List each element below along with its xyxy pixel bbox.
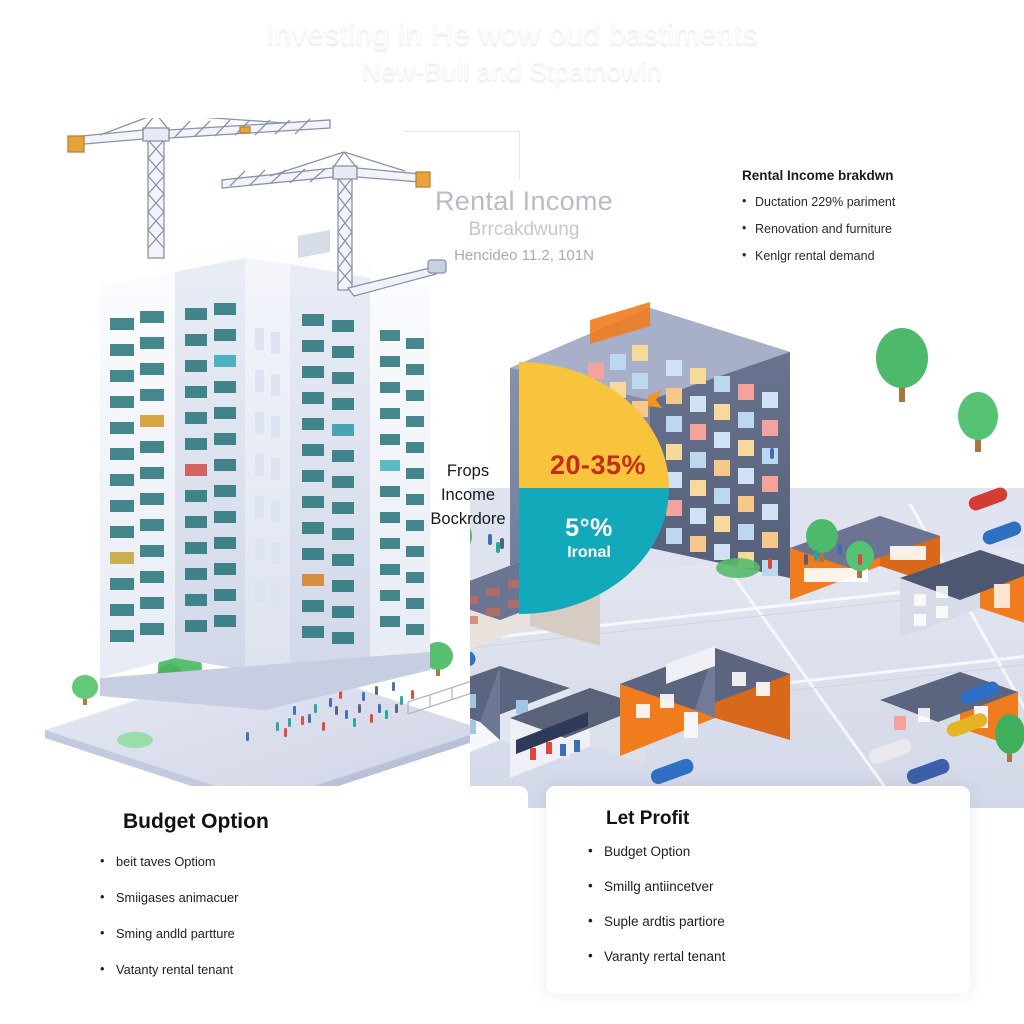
breakdown-item-label: Renovation and furniture [755, 222, 892, 236]
list-item: • beit taves Optiom [100, 854, 315, 869]
list-item: • Varanty rertal tenant [588, 949, 803, 964]
bullet-icon: • [742, 249, 746, 263]
bullet-icon: • [742, 222, 746, 236]
tower-crane-left [68, 118, 330, 258]
bullet-icon: • [588, 948, 593, 963]
bullet-icon: • [100, 853, 104, 868]
bullet-icon: • [100, 925, 104, 940]
list-item-label: Smiigases animacuer [116, 890, 238, 905]
chart-subtitle: Brrcakdwung [400, 219, 648, 241]
breakdown-item: • Kenlgr rental demand [742, 250, 992, 264]
breakdown-item-label: Ductation 229% pariment [755, 195, 895, 209]
budget-option-card: Budget Option • beit taves Optiom • Smii… [28, 786, 528, 994]
infographic-canvas: Investing in He wow oud bastiments New-B… [0, 0, 1024, 1024]
rental-income-pie-chart: 20-35% 5°% Ironal [519, 362, 669, 614]
list-item: • Sming andld partture [100, 926, 315, 941]
bullet-icon: • [588, 843, 593, 858]
list-item: • Vatanty rental tenant [100, 962, 315, 977]
list-item-label: beit taves Optiom [116, 854, 216, 869]
list-item: • Budget Option [588, 844, 803, 859]
chart-title: Rental Income [400, 186, 648, 217]
breakdown-item: • Ductation 229% pariment [742, 196, 992, 210]
title-line-2: New-Bull and Stpatnowin [0, 56, 1024, 87]
pie-label-teal-name: Ironal [529, 544, 649, 562]
chart-heading: Rental Income Brrcakdwung Hencideo 11.2,… [400, 186, 648, 264]
side-label-line-2: Income [418, 484, 518, 508]
pie-body [519, 362, 669, 614]
divider-horizontal [404, 131, 520, 132]
chart-side-label: Frops Income Bockrdore [418, 460, 518, 532]
side-label-line-3: Bockrdore [418, 508, 518, 532]
bullet-icon: • [100, 889, 104, 904]
title-line-1: Investing in He wow oud bastiments [0, 18, 1024, 52]
breakdown-item-label: Kenlgr rental demand [755, 249, 875, 263]
list-item-label: Varanty rertal tenant [604, 949, 725, 964]
list-item: • Suple ardtis partiore [588, 914, 803, 929]
list-item-label: Suple ardtis partiore [604, 914, 725, 929]
chart-caption: Hencideo 11.2, 101N [400, 247, 648, 264]
card-heading: Budget Option [123, 810, 269, 834]
apartment-tower [100, 230, 430, 710]
page-title: Investing in He wow oud bastiments New-B… [0, 18, 1024, 87]
card-heading: Let Profit [606, 808, 689, 830]
card-bullet-list: • Budget Option • Smillg antiincetver • … [588, 844, 803, 984]
pie-label-teal-value: 5°% [529, 514, 649, 543]
bullet-icon: • [588, 878, 593, 893]
breakdown-item: • Renovation and furniture [742, 223, 992, 237]
let-profit-card: Let Profit • Budget Option • Smillg anti… [546, 786, 970, 994]
bullet-icon: • [100, 961, 104, 976]
bullet-icon: • [742, 195, 746, 209]
list-item-label: Sming andld partture [116, 926, 235, 941]
divider-vertical [519, 131, 520, 179]
list-item-label: Budget Option [604, 844, 690, 859]
rental-income-breakdown-list: Rental Income brakdwn • Ductation 229% p… [742, 168, 992, 276]
list-item-label: Vatanty rental tenant [116, 962, 233, 977]
bullet-icon: • [588, 913, 593, 928]
breakdown-title: Rental Income brakdwn [742, 168, 992, 183]
side-label-line-1: Frops [418, 460, 518, 484]
pie-label-yellow: 20-35% [533, 450, 663, 481]
list-item: • Smillg antiincetver [588, 879, 803, 894]
list-item-label: Smillg antiincetver [604, 879, 714, 894]
list-item: • Smiigases animacuer [100, 890, 315, 905]
card-bullet-list: • beit taves Optiom • Smiigases animacue… [100, 854, 315, 998]
pie-label-teal: 5°% Ironal [529, 514, 649, 562]
